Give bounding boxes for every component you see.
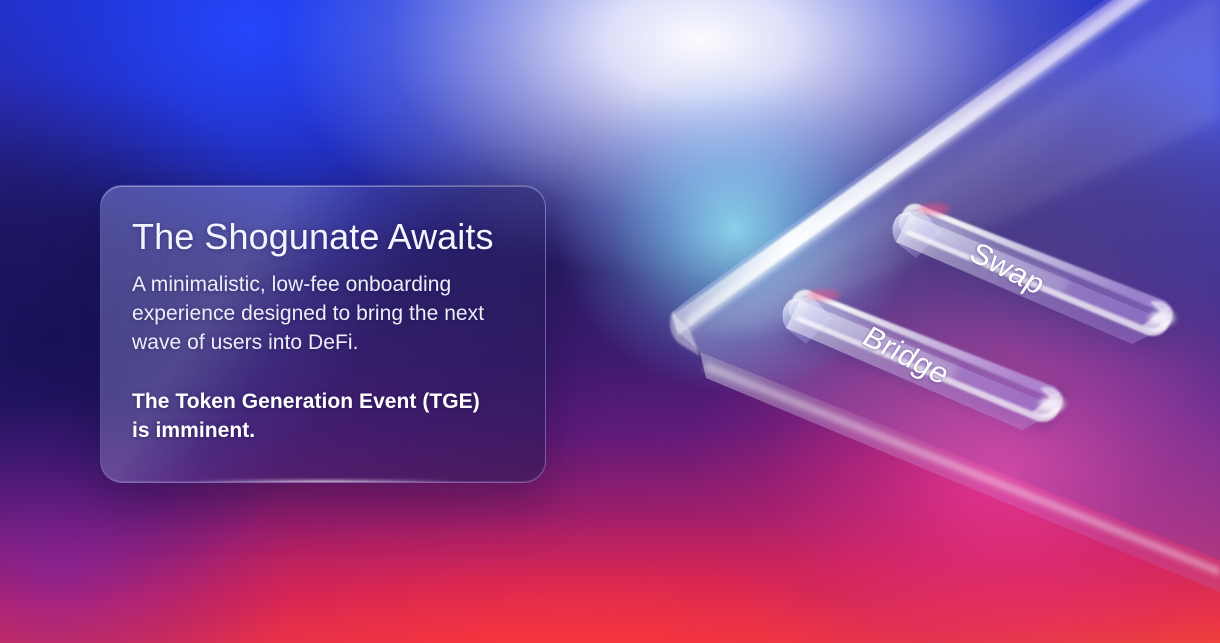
card-title: The Shogunate Awaits [132, 218, 515, 256]
hero-banner: Swap Bridge The Shogunate Awaits A minim… [0, 0, 1220, 643]
info-card: The Shogunate Awaits A minimalistic, low… [100, 185, 546, 483]
bridge-button[interactable] [785, 280, 1070, 425]
info-card-content: The Shogunate Awaits A minimalistic, low… [101, 186, 545, 445]
card-highlight-text: The Token Generation Event (TGE) is immi… [132, 387, 492, 445]
card-body-text: A minimalistic, low-fee onboarding exper… [132, 270, 514, 357]
